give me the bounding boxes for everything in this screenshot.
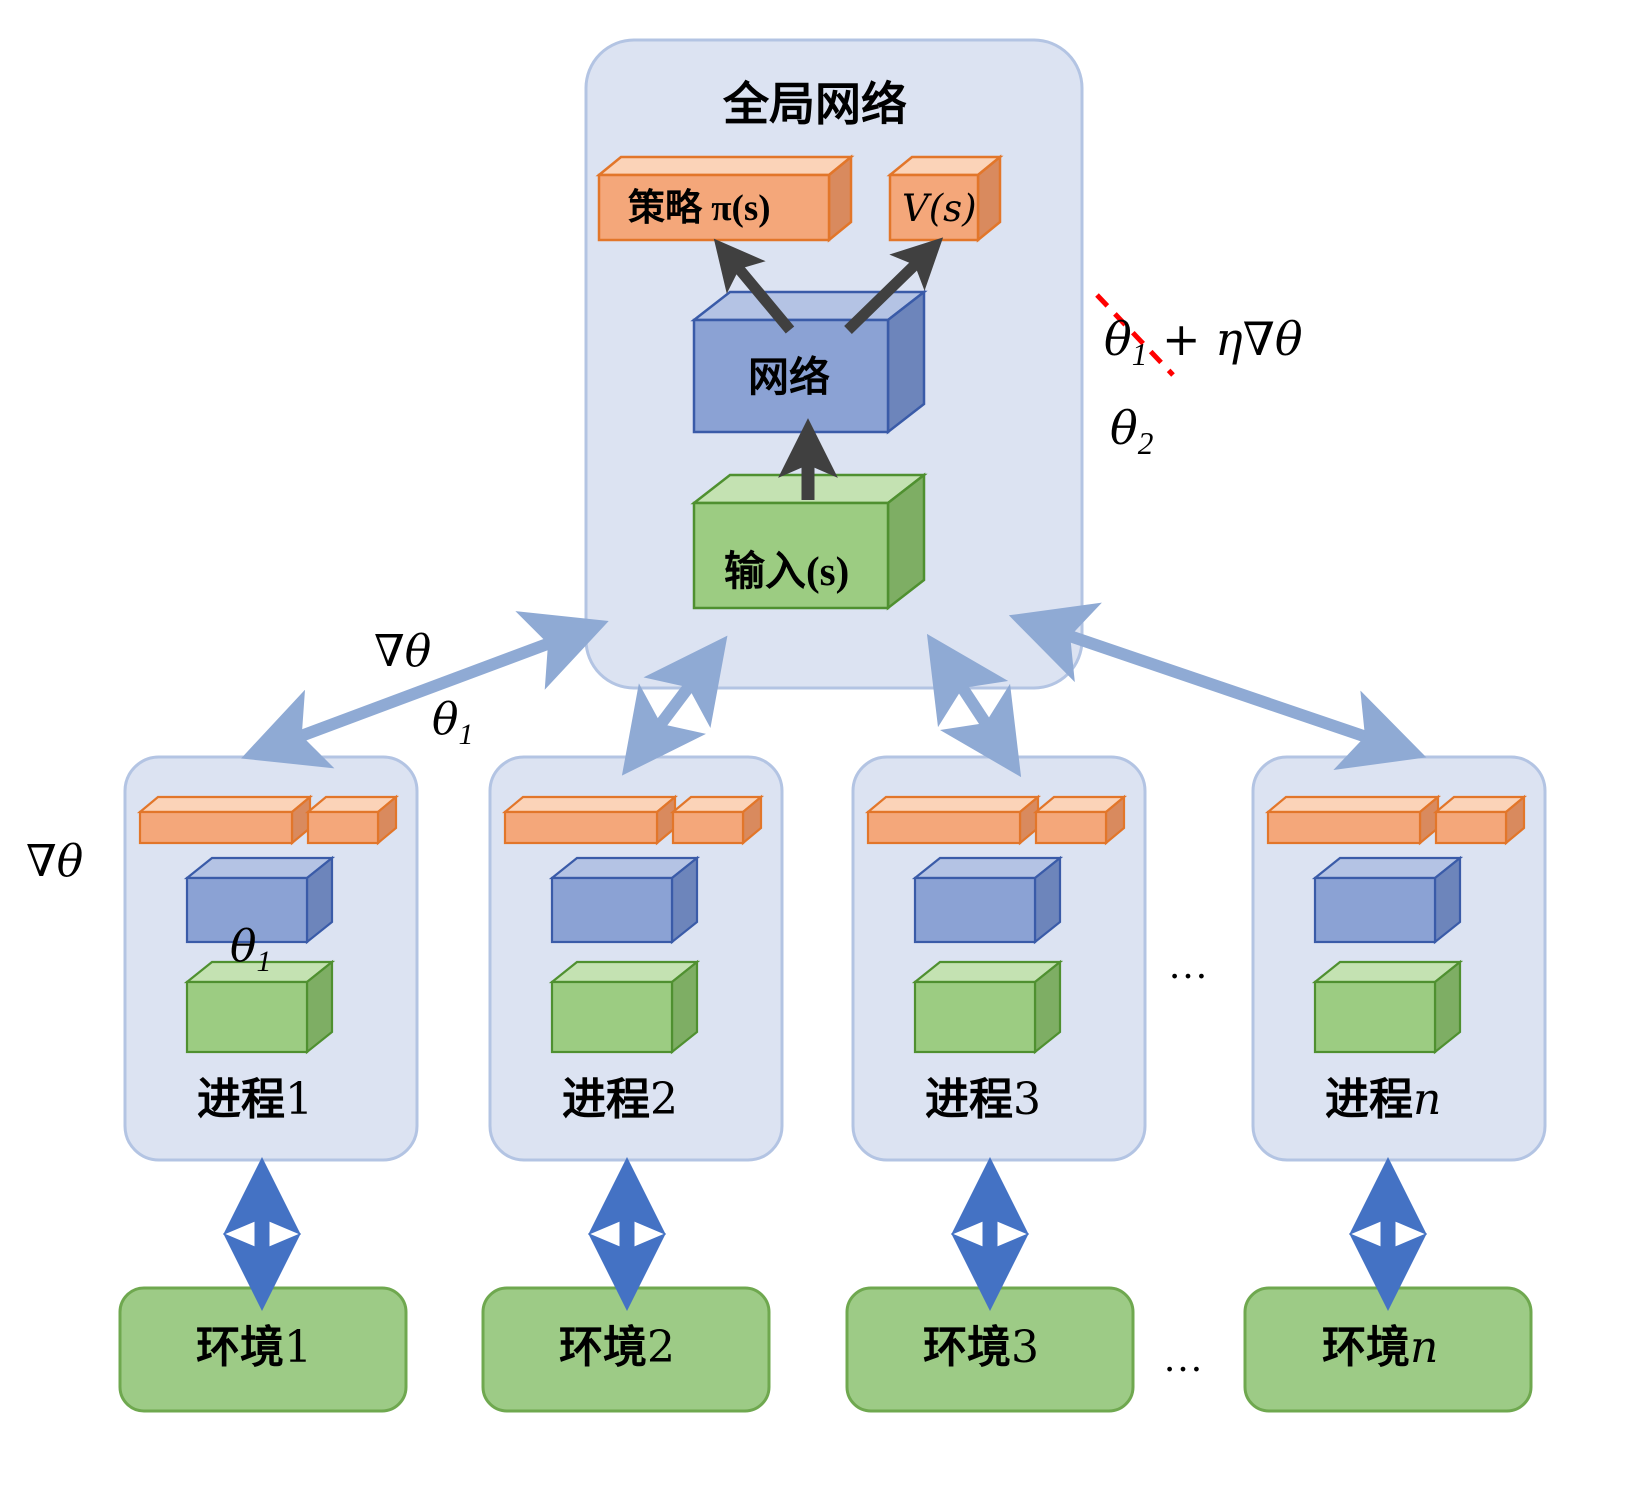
environments-ellipsis: … [1163,1338,1207,1378]
environment-label-n: 环境n [1322,1326,1438,1370]
worker-1-index: 1 [285,1074,313,1125]
worker-n-prefix: 进程 [1325,1075,1413,1124]
worker-2-prefix: 进程 [562,1075,650,1124]
formula-theta-subscript: 1 [1132,337,1148,372]
worker-n-index: n [1413,1074,1441,1125]
env-1-index: 1 [284,1322,312,1373]
grad-theta-top-label: ∇θ [374,630,431,674]
value-box-label: V(s) [902,190,977,227]
theta1-worker-symbol: θ [230,921,257,972]
theta2-symbol: θ [1110,401,1138,455]
env-3-index: 3 [1011,1322,1039,1373]
grad-theta-left-label: ∇θ [26,840,83,884]
theta1-worker-label: θ1 [230,925,271,977]
nabla-left-icon: ∇ [26,836,57,887]
global-network-title: 全局网络 [723,82,907,128]
environment-label-1: 环境1 [196,1326,312,1370]
theta1-worker-subscript: 1 [257,945,272,978]
env-2-prefix: 环境 [559,1323,647,1372]
env-3-prefix: 环境 [923,1323,1011,1372]
worker-label-1: 进程1 [197,1078,313,1122]
formula-remainder: + η∇θ [1147,312,1302,366]
formula-theta: θ [1104,312,1132,366]
formula-eta: η [1215,312,1243,366]
worker-label-n: 进程n [1325,1078,1441,1122]
worker-2-index: 2 [650,1074,678,1125]
environment-label-2: 环境2 [559,1326,675,1370]
diagram-vector-layer [0,0,1628,1506]
network-box-label: 网络 [748,357,830,398]
theta2-subscript: 2 [1138,426,1154,461]
worker-environment-arrows [262,1196,1388,1272]
policy-box-label: 策略 π(s) [628,190,771,227]
update-formula: θ1 + η∇θ [1104,316,1303,370]
input-box-label: 输入(s) [724,551,849,592]
theta1-top-subscript: 1 [459,718,474,751]
worker-1-prefix: 进程 [197,1075,285,1124]
workers-ellipsis: … [1168,945,1212,985]
theta2-annotation: θ2 [1110,405,1153,459]
environment-label-3: 环境3 [923,1326,1039,1370]
environment-boxes [120,1288,1531,1411]
policy-label-cjk: 策略 π(s) [628,188,771,229]
worker-label-2: 进程2 [562,1078,678,1122]
nabla-icon: ∇ [1243,312,1275,366]
theta1-top-symbol: θ [432,694,459,745]
theta-left-symbol: θ [57,836,84,887]
worker-3-prefix: 进程 [925,1075,1013,1124]
theta1-top-label: θ1 [432,698,473,750]
env-n-prefix: 环境 [1322,1323,1410,1372]
env-1-prefix: 环境 [196,1323,284,1372]
formula-theta-grad: θ [1275,312,1303,366]
theta-top-symbol: θ [405,626,432,677]
diagram-canvas: 全局网络 策略 π(s) V(s) 网络 输入(s) θ1 + η∇θ θ2 ∇… [0,0,1628,1506]
worker-label-3: 进程3 [925,1078,1041,1122]
worker-3-index: 3 [1013,1074,1041,1125]
nabla-top-icon: ∇ [374,626,405,677]
env-n-index: n [1410,1322,1438,1373]
env-2-index: 2 [647,1322,675,1373]
